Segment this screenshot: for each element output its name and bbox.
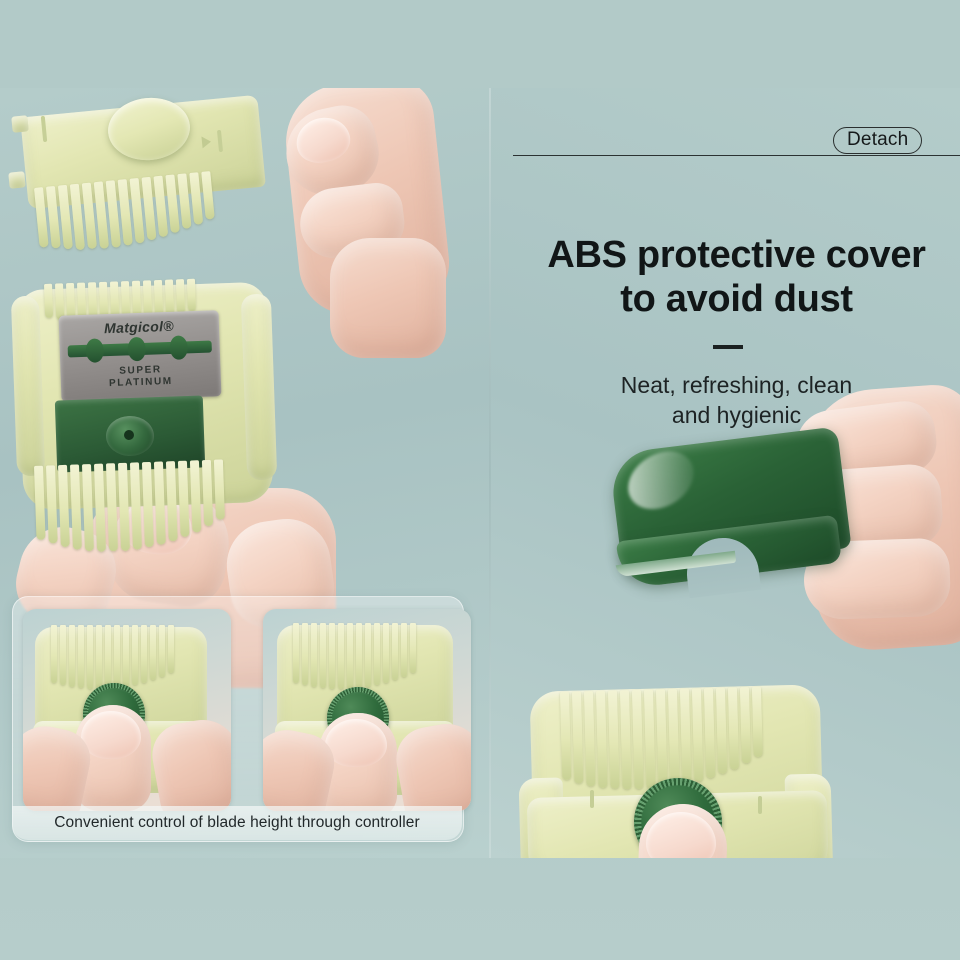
- comb-attachment-clip-left: [11, 115, 28, 132]
- inset-panel-dial-step-2: [263, 609, 471, 811]
- blade-brand-label: Matgicol®: [59, 316, 219, 338]
- headline-dash-divider: [713, 345, 743, 349]
- inset-caption-bar: Convenient control of blade height throu…: [12, 806, 462, 840]
- clipper-tick-right: [758, 796, 762, 814]
- inset1-thumbnail: [81, 711, 141, 759]
- inset-caption-text: Convenient control of blade height throu…: [54, 814, 419, 832]
- subtext-line-2: and hygienic: [513, 400, 960, 430]
- headline: ABS protective cover to avoid dust: [513, 233, 960, 321]
- panel-seam: [489, 88, 491, 858]
- header-divider: [513, 155, 960, 156]
- subtext-line-1: Neat, refreshing, clean: [513, 370, 960, 400]
- headline-line-2: to avoid dust: [513, 277, 960, 321]
- inset-panel-dial-step-1: [23, 609, 231, 811]
- hand-knuckles-top: [330, 238, 446, 358]
- clipper-head-bottom-teeth: [560, 687, 764, 791]
- inset2-teeth: [293, 623, 416, 689]
- triangle-marker-icon: [201, 136, 211, 149]
- inset1-teeth: [51, 625, 174, 689]
- cover-gloss-highlight: [617, 440, 704, 521]
- blade-slot-notch-2: [127, 337, 146, 362]
- blade-mounting-screw-center: [124, 430, 134, 440]
- detach-badge[interactable]: Detach: [833, 127, 922, 154]
- clipper-head-lower-teeth: [34, 459, 226, 554]
- right-photo-panel: [490, 88, 960, 858]
- comb-attachment-clip-left-lower: [8, 171, 25, 188]
- clipper-tick-left: [590, 790, 594, 808]
- headline-line-1: ABS protective cover: [513, 233, 960, 277]
- blade-slot-notch-1: [85, 338, 104, 363]
- razor-blade-plate: Matgicol® SUPER PLATINUM: [59, 310, 222, 402]
- clipper-head-side-rail-right: [241, 294, 277, 481]
- inset2-thumbnail: [325, 719, 387, 767]
- product-marketing-image: Matgicol® SUPER PLATINUM: [0, 0, 960, 960]
- blade-slot-notch-3: [169, 335, 188, 360]
- subtext: Neat, refreshing, clean and hygienic: [513, 370, 960, 430]
